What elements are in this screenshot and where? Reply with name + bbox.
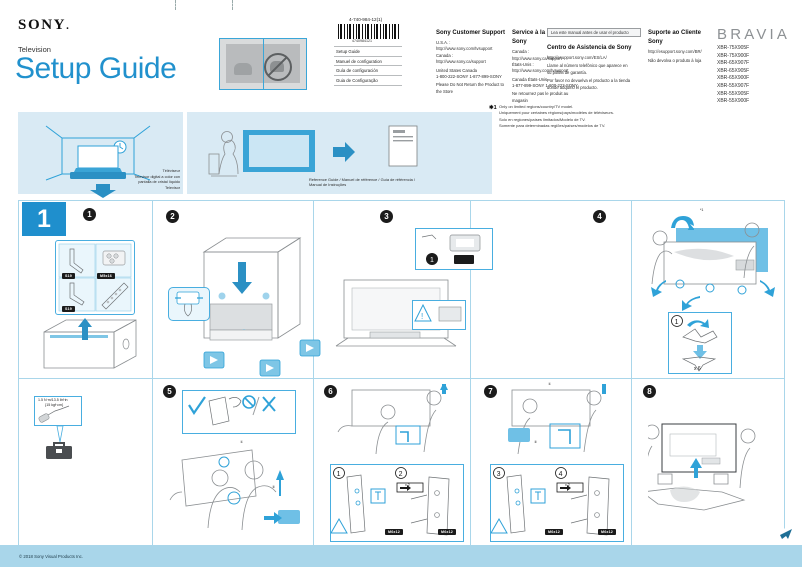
guide-caption: Reference Guide / Manuel de référence / … [309, 177, 459, 188]
torque-value-alt: {15 kgf·cm} [45, 403, 63, 407]
support-column-portuguese: Suporte ao Cliente Sony http://esupport.… [648, 29, 716, 64]
clip-count-x6: x 6 [694, 366, 701, 372]
column-divider-4 [631, 200, 632, 378]
barcode-icon [338, 24, 400, 39]
support-column-english: Sony Customer Support U.S.A. : http://ww… [436, 29, 506, 95]
logo-dot: . [66, 20, 70, 32]
model-number: XBR-65X905F [717, 68, 749, 76]
support-heading: Suporte ao Cliente Sony [648, 29, 716, 47]
support-note: Please Do Not Return the Product to the … [436, 82, 506, 95]
svg-text:1: 1 [337, 471, 341, 478]
toolbox-icon [46, 440, 72, 460]
outer-border-left [18, 200, 19, 545]
step7-sub2: ② [534, 440, 537, 444]
right-arrow-icon [333, 142, 355, 162]
support-note: Ne retournez pas le produit au magasin [512, 91, 584, 104]
clip-icon-3 [298, 338, 322, 358]
substep-marker-1: 1 [83, 208, 96, 221]
step3-warning-callout: ! [412, 300, 466, 330]
callout-tail [55, 426, 65, 442]
package-contents-tv-panel: Téléviseur Televisor digital a color con… [18, 112, 183, 194]
list-item: Guia de Configuração [334, 76, 402, 86]
model-number: XBR-75X900F [717, 53, 749, 61]
substep-marker-5: 5 [163, 385, 176, 398]
tv-caption: Téléviseur Televisor digital a color con… [88, 169, 180, 191]
step3-tool-callout: 1 [415, 228, 493, 270]
no-touch-screen-illustration [219, 38, 307, 90]
section-divider-top [18, 200, 784, 201]
model-number: XBR-75X905F [717, 45, 749, 53]
barcode-caption: 4740984121 [352, 39, 372, 43]
footnote-line: Somente para determinadas regiões/países… [499, 123, 614, 129]
step7-sub1: ① [548, 382, 551, 386]
page-title: Setup Guide [15, 52, 176, 86]
list-item: Manuel de configuration [334, 57, 402, 67]
step7-count-x2: x 2 [565, 483, 570, 487]
part-label-m6x12-left-2: M6x12 [545, 529, 563, 535]
step5-sub1: ① [240, 440, 243, 444]
substep-marker-4: 4 [593, 210, 606, 223]
model-number: XBR-65X900F [717, 75, 749, 83]
setup-guide-page: SONY. Television Setup Guide 4-740-984-1… [0, 0, 802, 567]
svg-text:1: 1 [675, 319, 679, 326]
part-label-m6x12-left: M6x12 [385, 529, 403, 535]
part-label-m6x12-right-2: M6x12 [598, 529, 616, 535]
page-turn-arrow-icon [762, 511, 802, 545]
part-label-s19-b: S19 [62, 306, 75, 312]
column-divider-6 [313, 378, 314, 545]
footnote-marker: ✱1 [489, 105, 497, 111]
support-heading: Centro de Asistencia de Sony [547, 44, 639, 53]
svg-text:!: ! [421, 312, 423, 321]
model-number-list: XBR-75X905F XBR-75X900F XBR-65X907F XBR-… [717, 45, 749, 106]
clip-icon-2 [258, 358, 282, 378]
list-item: Setup Guide [334, 46, 402, 57]
spanish-notice-box: Lea este manual antes de usar el product… [547, 28, 641, 37]
support-column-spanish: Centro de Asistencia de Sony http://esup… [547, 44, 639, 91]
up-arrow-icon [78, 318, 92, 340]
support-line: Llame al número telefónico que aparece e… [547, 63, 639, 69]
part-number: 4-740-984-12(1) [349, 17, 382, 22]
substep-marker-3: 3 [380, 210, 393, 223]
column-divider-5 [152, 378, 153, 545]
step8-illustration [648, 392, 780, 532]
model-number: XBR-55X900F [717, 98, 749, 106]
model-number: XBR-55X907F [717, 83, 749, 91]
torque-value: 1.5 N·m/13.5 lbf·in [38, 398, 68, 402]
part-label-m6x12-right: M6x12 [438, 529, 456, 535]
section-divider-mid [18, 378, 784, 379]
support-line: Por favor no devuelva el producto a la t… [547, 78, 639, 84]
support-line: donde adquirió el producto. [547, 85, 639, 91]
column-divider-8 [631, 378, 632, 545]
support-line: Não devolva o produto à loja [648, 58, 716, 64]
footer-bar [0, 545, 802, 567]
step7-illustration [490, 384, 624, 460]
step6-count-x2: x 2 [405, 483, 410, 487]
part-label-m5x16: M5x16 [97, 273, 115, 279]
copyright-text: © 2018 Sony Visual Products Inc. [19, 554, 83, 559]
svg-text:4: 4 [559, 471, 563, 478]
registration-mark-left [175, 0, 176, 10]
column-divider-3 [470, 200, 471, 378]
list-item: Guía de configuración [334, 66, 402, 76]
svg-text:3: 3 [497, 471, 501, 478]
clip-icon-1 [202, 350, 226, 370]
step4-illustration [640, 212, 786, 322]
svg-text:1: 1 [430, 257, 434, 264]
column-divider-7 [470, 378, 471, 545]
prohibition-icon [264, 53, 292, 81]
document-language-list: Setup Guide Manuel de configuration Guía… [334, 46, 402, 86]
step2-detail-callout [168, 287, 210, 321]
step5-sub2: ② [272, 485, 275, 489]
bravia-wordmark: BRAVIA [717, 26, 790, 43]
registration-mark-right [232, 0, 233, 10]
step4-clip-callout: 1 [668, 312, 732, 374]
package-contents-guide-panel: Reference Guide / Manuel de référence / … [187, 112, 492, 194]
unpack-scene-illustration [205, 122, 325, 184]
step5-illustration [168, 440, 304, 536]
sony-wordmark: SONY [18, 17, 66, 33]
footnote-line: Uniquement pour certaines régions/pays/m… [499, 110, 614, 116]
support-heading: Sony Customer Support [436, 29, 506, 38]
reference-guide-illustration [383, 124, 423, 174]
caption-line-2: Manual de Instruções [309, 182, 459, 188]
hand-icon [234, 63, 252, 75]
step6-illustration [330, 384, 464, 460]
footnote-text: Only on limited regions/country/TV model… [499, 104, 614, 130]
column-divider-1 [152, 200, 153, 378]
support-line: 1-800-222-SONY 1-877-899-SONY [436, 74, 506, 80]
caption-line-4: Televisor [88, 186, 180, 191]
model-number: XBR-55X905F [717, 91, 749, 99]
model-number: XBR-65X907F [717, 60, 749, 68]
step5-do-dont-callout [182, 390, 296, 434]
step-number-1: 1 [22, 202, 66, 236]
sony-logo: SONY. [18, 17, 70, 34]
rotate-arrow-icon [668, 214, 694, 230]
substep-marker-2: 2 [166, 210, 179, 223]
svg-text:2: 2 [399, 471, 403, 478]
part-label-s19: S19 [62, 273, 75, 279]
